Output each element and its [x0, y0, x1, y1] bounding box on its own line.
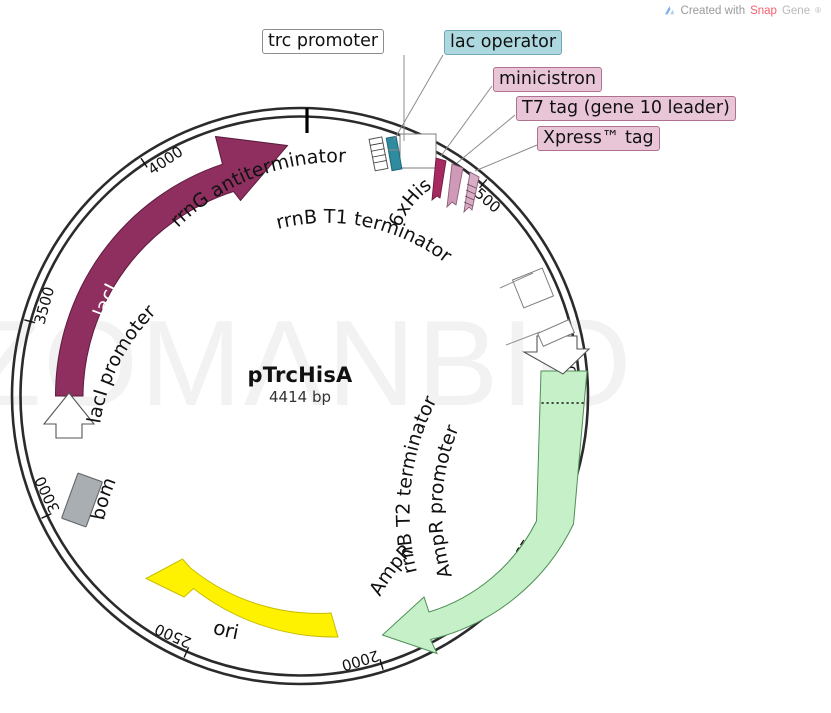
callout-minicistron[interactable]: minicistron [493, 67, 602, 92]
callout-lac-operator[interactable]: lac operator [444, 30, 562, 55]
label-rrnb-t1-terminator: rrnB T1 terminator [274, 206, 456, 268]
callout-trc-promoter[interactable]: trc promoter [262, 29, 384, 54]
callout-xpress-tag[interactable]: Xpress™ tag [537, 126, 660, 151]
label-6xhis: 6xHis [384, 174, 435, 230]
plasmid-title-block: pTrcHisA 4414 bp [195, 363, 405, 406]
plasmid-name: pTrcHisA [195, 363, 405, 387]
label-ori: ori [211, 615, 241, 644]
tick-label-4000: 4000 [145, 142, 187, 178]
feature-ori[interactable] [146, 559, 338, 637]
label-ampr-promoter: AmpR promoter [425, 422, 464, 581]
feature-unlabeled-3[interactable] [400, 134, 436, 168]
feature-t7-tag[interactable] [447, 164, 463, 207]
feature-trc-promoter[interactable] [369, 137, 388, 171]
tick-label-2000: 2000 [339, 646, 381, 674]
plasmid-size: 4414 bp [195, 388, 405, 406]
callout-t7-tag[interactable]: T7 tag (gene 10 leader) [516, 96, 736, 121]
